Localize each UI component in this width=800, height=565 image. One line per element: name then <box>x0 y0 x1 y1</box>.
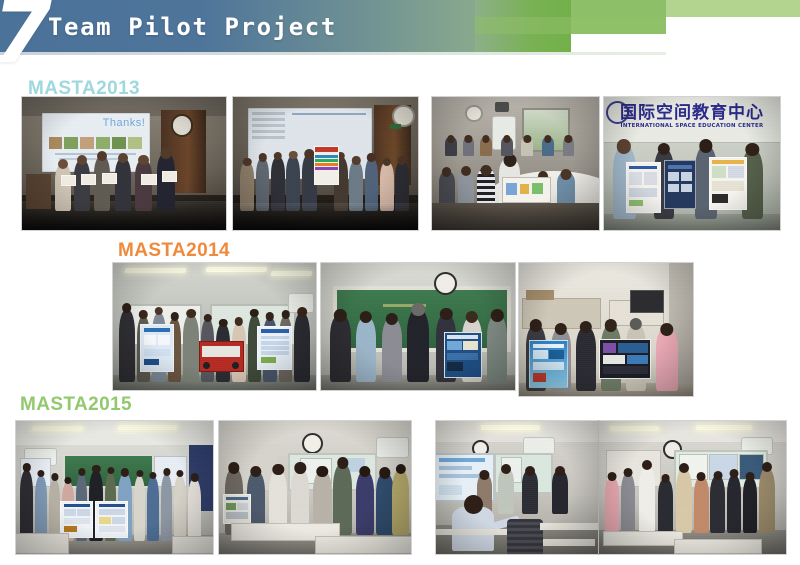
page-title: Team Pilot Project <box>48 13 337 41</box>
banner-drop-shadow <box>0 52 666 55</box>
photo-2013-2 <box>233 97 418 230</box>
photo-2014-2 <box>321 263 515 390</box>
photo-2013-4: 国际空间教育中心 INTERNATIONAL SPACE EDUCATION C… <box>604 97 780 230</box>
photo-2015-1 <box>16 421 213 554</box>
photo-2015-2 <box>219 421 411 554</box>
section-label-masta2014: MASTA2014 <box>118 240 230 262</box>
photo-2015-3 <box>436 421 598 554</box>
photo-2013-3 <box>432 97 599 230</box>
photo-2014-1 <box>113 263 316 390</box>
banner-green-band-3 <box>666 0 800 17</box>
section-label-masta2015: MASTA2015 <box>20 394 132 416</box>
photo-2014-3 <box>519 263 693 396</box>
slide-header-banner: 7 Team Pilot Project <box>0 0 800 56</box>
photo-2015-4 <box>599 421 786 554</box>
slide-canvas: 7 Team Pilot Project MASTA2013 Thanks! <box>0 0 800 565</box>
slide-number: 7 <box>0 0 50 76</box>
photo-2013-1: Thanks! <box>22 97 226 230</box>
banner-green-band-2-top <box>571 0 666 17</box>
banner-green-band-2-overlay <box>571 17 666 34</box>
banner-green-band-1-overlay <box>475 17 571 34</box>
